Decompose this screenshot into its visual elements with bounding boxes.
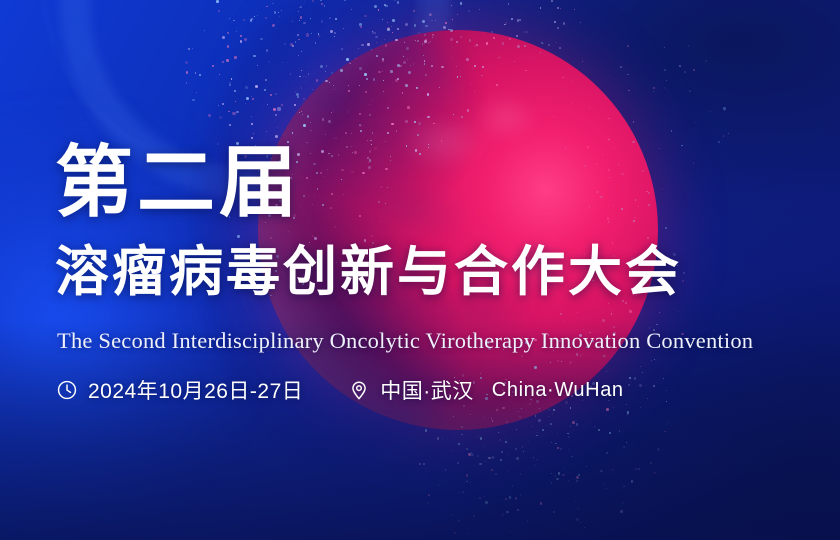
banner-content: 第二届 溶瘤病毒创新与合作大会 The Second Interdiscipli… xyxy=(55,0,815,540)
event-date: 2024年10月26日-27日 xyxy=(55,375,303,405)
title-english: The Second Interdisciplinary Oncolytic V… xyxy=(57,330,753,353)
title-chinese-line2: 溶瘤病毒创新与合作大会 xyxy=(55,245,682,299)
event-meta-row: 2024年10月26日-27日 中国·武汉 China·WuHan xyxy=(55,375,624,405)
event-location-en: China·WuHan xyxy=(492,379,624,402)
conference-banner: 第二届 溶瘤病毒创新与合作大会 The Second Interdiscipli… xyxy=(0,0,840,540)
event-location: 中国·武汉 China·WuHan xyxy=(347,375,623,405)
event-location-cn: 中国·武汉 xyxy=(380,375,474,405)
event-date-text: 2024年10月26日-27日 xyxy=(88,375,303,405)
title-chinese-line1: 第二届 xyxy=(55,143,301,221)
map-pin-icon xyxy=(347,378,371,402)
clock-icon xyxy=(55,378,79,402)
